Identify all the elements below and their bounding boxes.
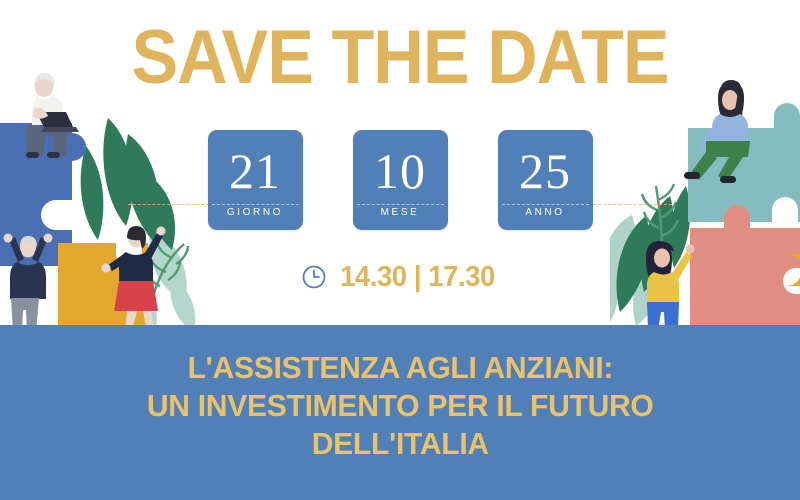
card-divider	[357, 204, 444, 205]
card-divider	[502, 204, 589, 205]
event-title-line-1: L'ASSISTENZA AGLI ANZIANI:	[187, 349, 613, 387]
date-card-month-value: 10	[374, 146, 426, 196]
clock-icon	[301, 264, 327, 290]
date-card-year: 25 ANNO	[498, 130, 593, 230]
date-card-month: 10 MESE	[353, 130, 448, 230]
date-card-year-label: ANNO	[498, 207, 593, 218]
date-cards: 21 GIORNO 10 MESE 25 ANNO	[0, 130, 800, 230]
date-card-day-label: GIORNO	[208, 207, 303, 218]
event-time-row: 14.30 | 17.30	[0, 262, 800, 292]
date-card-day-value: 21	[229, 146, 281, 196]
page-title: SAVE THE DATE	[32, 18, 768, 98]
event-title-line-3: DELL'ITALIA	[311, 425, 488, 463]
event-title-banner: L'ASSISTENZA AGLI ANZIANI: UN INVESTIMEN…	[0, 325, 800, 500]
save-the-date-poster: SAVE THE DATE 21 GIORNO 10 MESE 25 ANNO …	[0, 0, 800, 500]
date-card-month-label: MESE	[353, 207, 448, 218]
card-divider	[212, 204, 299, 205]
date-card-day: 21 GIORNO	[208, 130, 303, 230]
event-title-line-2: UN INVESTIMENTO PER IL FUTURO	[147, 387, 654, 425]
event-time-text: 14.30 | 17.30	[340, 262, 495, 292]
date-card-year-value: 25	[519, 146, 571, 196]
